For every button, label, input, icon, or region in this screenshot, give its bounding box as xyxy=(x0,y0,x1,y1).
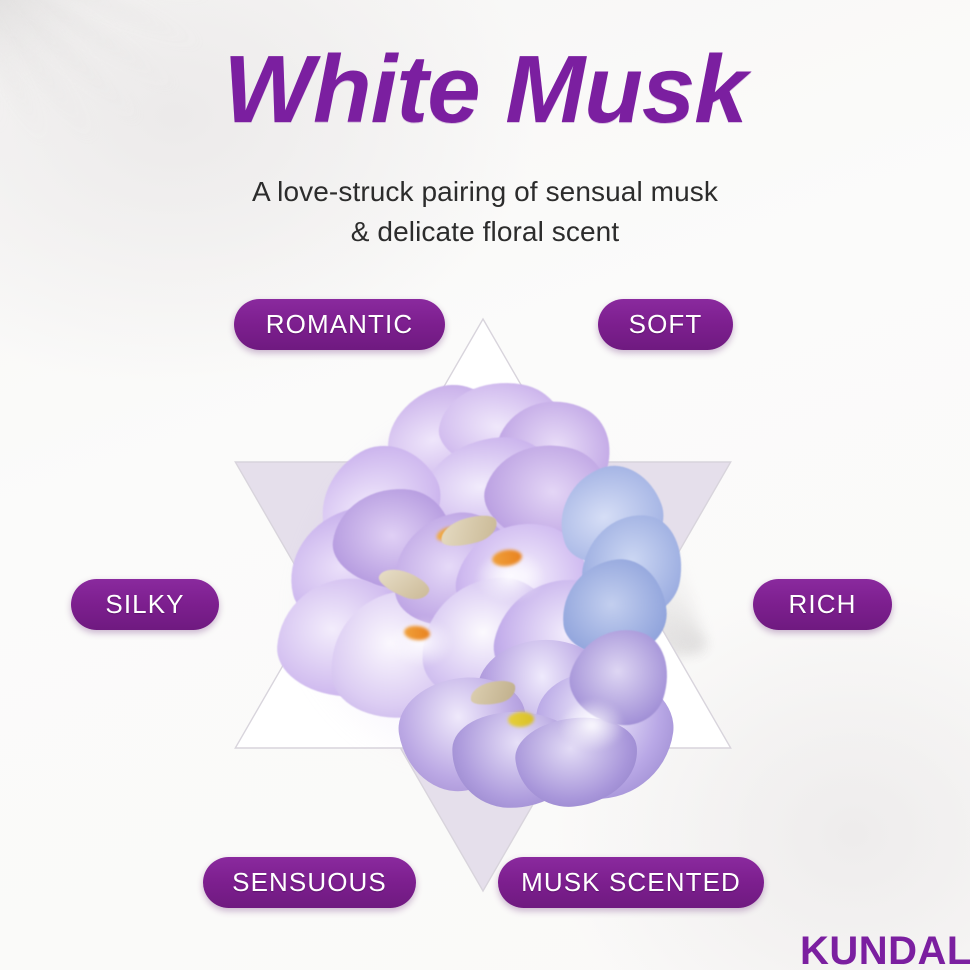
attribute-pill-label: SILKY xyxy=(105,589,184,620)
attribute-pill-romantic[interactable]: ROMANTIC xyxy=(234,299,445,350)
attribute-pill-label: SENSUOUS xyxy=(232,867,387,898)
attribute-pill-label: MUSK SCENTED xyxy=(521,867,741,898)
attribute-pill-silky[interactable]: SILKY xyxy=(71,579,219,630)
attribute-pill-rich[interactable]: RICH xyxy=(753,579,892,630)
attribute-pill-musk-scented[interactable]: MUSK SCENTED xyxy=(498,857,764,908)
page-subtitle: A love-struck pairing of sensual musk & … xyxy=(0,172,970,252)
subtitle-line-2: & delicate floral scent xyxy=(0,212,970,252)
attribute-pill-label: RICH xyxy=(789,589,857,620)
brand-wordmark: KUNDAL xyxy=(800,929,970,970)
subtitle-line-1: A love-struck pairing of sensual musk xyxy=(0,172,970,212)
attribute-pill-sensuous[interactable]: SENSUOUS xyxy=(203,857,416,908)
product-scent-card: ROMANTIC SOFT SILKY RICH SENSUOUS MUSK S… xyxy=(0,0,970,970)
attribute-pill-label: SOFT xyxy=(629,309,703,340)
page-title: White Musk xyxy=(0,42,970,138)
hexagram-diagram xyxy=(0,0,970,970)
attribute-pill-soft[interactable]: SOFT xyxy=(598,299,733,350)
attribute-pill-label: ROMANTIC xyxy=(266,309,413,340)
